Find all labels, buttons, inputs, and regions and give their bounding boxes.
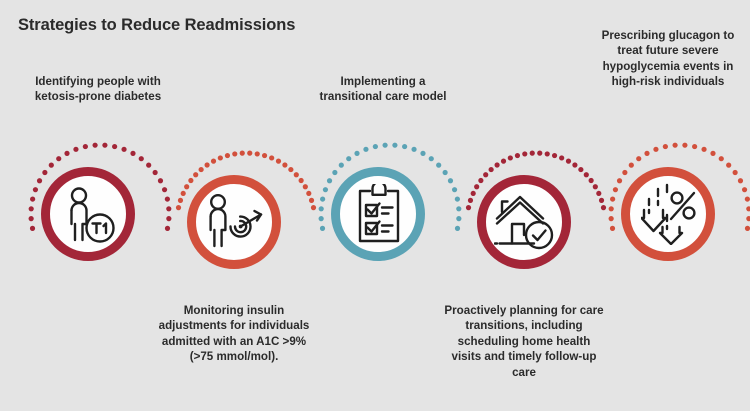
infographic-canvas: Strategies to Reduce Readmissions Identi… [0, 0, 750, 411]
home-check-icon [494, 192, 556, 252]
strategy-caption-3: Implementing a transitional care model [308, 74, 458, 105]
strategy-caption-5: Prescribing glucagon to treat future sev… [588, 28, 748, 90]
clipboard-checklist-icon [354, 184, 404, 244]
person-t1-diabetes-icon [62, 186, 118, 244]
strategy-caption-1: Identifying people with ketosis-prone di… [14, 74, 182, 105]
page-title: Strategies to Reduce Readmissions [18, 16, 295, 35]
declining-percent-arrows-icon [641, 183, 696, 245]
strategy-caption-2: Monitoring insulin adjustments for indiv… [153, 303, 315, 365]
strategy-caption-4: Proactively planning for care transition… [444, 303, 604, 380]
person-target-arrow-icon [204, 193, 266, 251]
